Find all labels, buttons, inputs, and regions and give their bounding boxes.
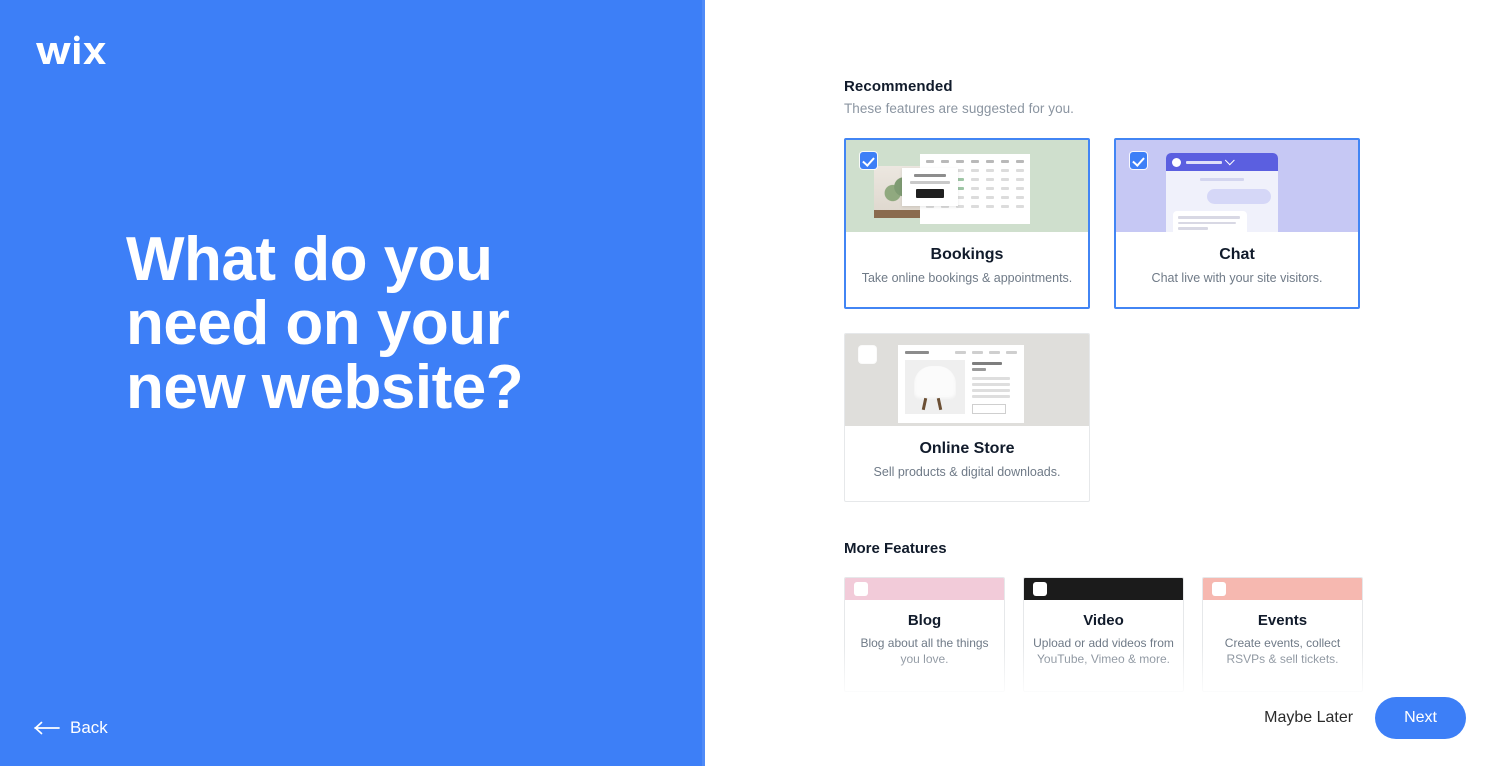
online-store-thumbnail [845, 334, 1089, 426]
bookings-card-title: Bookings [856, 246, 1078, 264]
bookings-card-desc: Take online bookings & appointments. [856, 270, 1078, 287]
page-title: What do you need on your new website? [126, 228, 606, 420]
onboarding-page: What do you need on your new website? Ba… [0, 0, 1500, 766]
events-card-desc: Create events, collect RSVPs & sell tick… [1211, 635, 1354, 667]
chat-card-body: Chat Chat live with your site visitors. [1116, 232, 1358, 307]
chat-bubble-incoming [1173, 211, 1247, 232]
arrow-left-icon [34, 721, 60, 735]
recommended-title: Recommended [844, 78, 1364, 95]
checkbox-chat[interactable] [1130, 152, 1147, 169]
back-button-label: Back [70, 718, 108, 738]
feature-card-blog[interactable]: Blog Blog about all the things you love. [844, 577, 1005, 692]
chevron-down-icon [1225, 155, 1235, 165]
recommended-subtitle: These features are suggested for you. [844, 101, 1364, 116]
feature-card-online-store[interactable]: Online Store Sell products & digital dow… [844, 333, 1090, 502]
headline-line-2: need on your [126, 292, 606, 356]
online-store-card-desc: Sell products & digital downloads. [855, 464, 1079, 481]
online-store-card-body: Online Store Sell products & digital dow… [845, 426, 1089, 501]
left-hero-panel: What do you need on your new website? Ba… [0, 0, 705, 766]
events-thumbnail [1203, 578, 1362, 600]
events-card-body: Events Create events, collect RSVPs & se… [1203, 600, 1362, 691]
store-page-art [898, 345, 1024, 423]
bookings-thumbnail [846, 140, 1088, 232]
video-card-desc: Upload or add videos from YouTube, Vimeo… [1032, 635, 1175, 667]
checkbox-blog[interactable] [854, 582, 868, 596]
online-store-card-title: Online Store [855, 440, 1079, 458]
bookings-card-body: Bookings Take online bookings & appointm… [846, 232, 1088, 307]
events-card-title: Events [1211, 612, 1354, 629]
more-features-card-grid: Blog Blog about all the things you love.… [844, 577, 1364, 692]
maybe-later-button[interactable]: Maybe Later [1264, 709, 1353, 727]
feature-card-bookings[interactable]: Bookings Take online bookings & appointm… [844, 138, 1090, 309]
chat-widget-art [1166, 153, 1278, 232]
wix-logo [34, 33, 106, 69]
chat-widget-header [1166, 153, 1278, 171]
chat-bubble-outgoing [1207, 189, 1271, 204]
feature-card-video[interactable]: Video Upload or add videos from YouTube,… [1023, 577, 1184, 692]
checkbox-bookings[interactable] [860, 152, 877, 169]
chat-thumbnail [1116, 140, 1358, 232]
recommended-card-grid: Bookings Take online bookings & appointm… [844, 138, 1364, 502]
video-card-title: Video [1032, 612, 1175, 629]
headline-line-1: What do you [126, 228, 606, 292]
checkbox-video[interactable] [1033, 582, 1047, 596]
headline-line-3: new website? [126, 356, 606, 420]
blog-card-body: Blog Blog about all the things you love. [845, 600, 1004, 691]
feature-card-events[interactable]: Events Create events, collect RSVPs & se… [1202, 577, 1363, 692]
video-thumbnail [1024, 578, 1183, 600]
blog-card-title: Blog [853, 612, 996, 629]
feature-card-chat[interactable]: Chat Chat live with your site visitors. [1114, 138, 1360, 309]
checkbox-online-store[interactable] [859, 346, 876, 363]
features-content: Recommended These features are suggested… [844, 78, 1364, 692]
video-card-body: Video Upload or add videos from YouTube,… [1024, 600, 1183, 691]
blog-thumbnail [845, 578, 1004, 600]
product-photo-art [905, 360, 965, 414]
footer-actions: Maybe Later Next [1264, 697, 1466, 739]
features-panel: Recommended These features are suggested… [705, 0, 1500, 766]
next-button[interactable]: Next [1375, 697, 1466, 739]
checkbox-events[interactable] [1212, 582, 1226, 596]
back-button[interactable]: Back [34, 718, 108, 738]
more-features-title: More Features [844, 540, 1364, 557]
chat-avatar-icon [1172, 158, 1181, 167]
chat-card-title: Chat [1126, 246, 1348, 264]
blog-card-desc: Blog about all the things you love. [853, 635, 996, 667]
booking-detail-card-art [902, 168, 958, 206]
chat-card-desc: Chat live with your site visitors. [1126, 270, 1348, 287]
